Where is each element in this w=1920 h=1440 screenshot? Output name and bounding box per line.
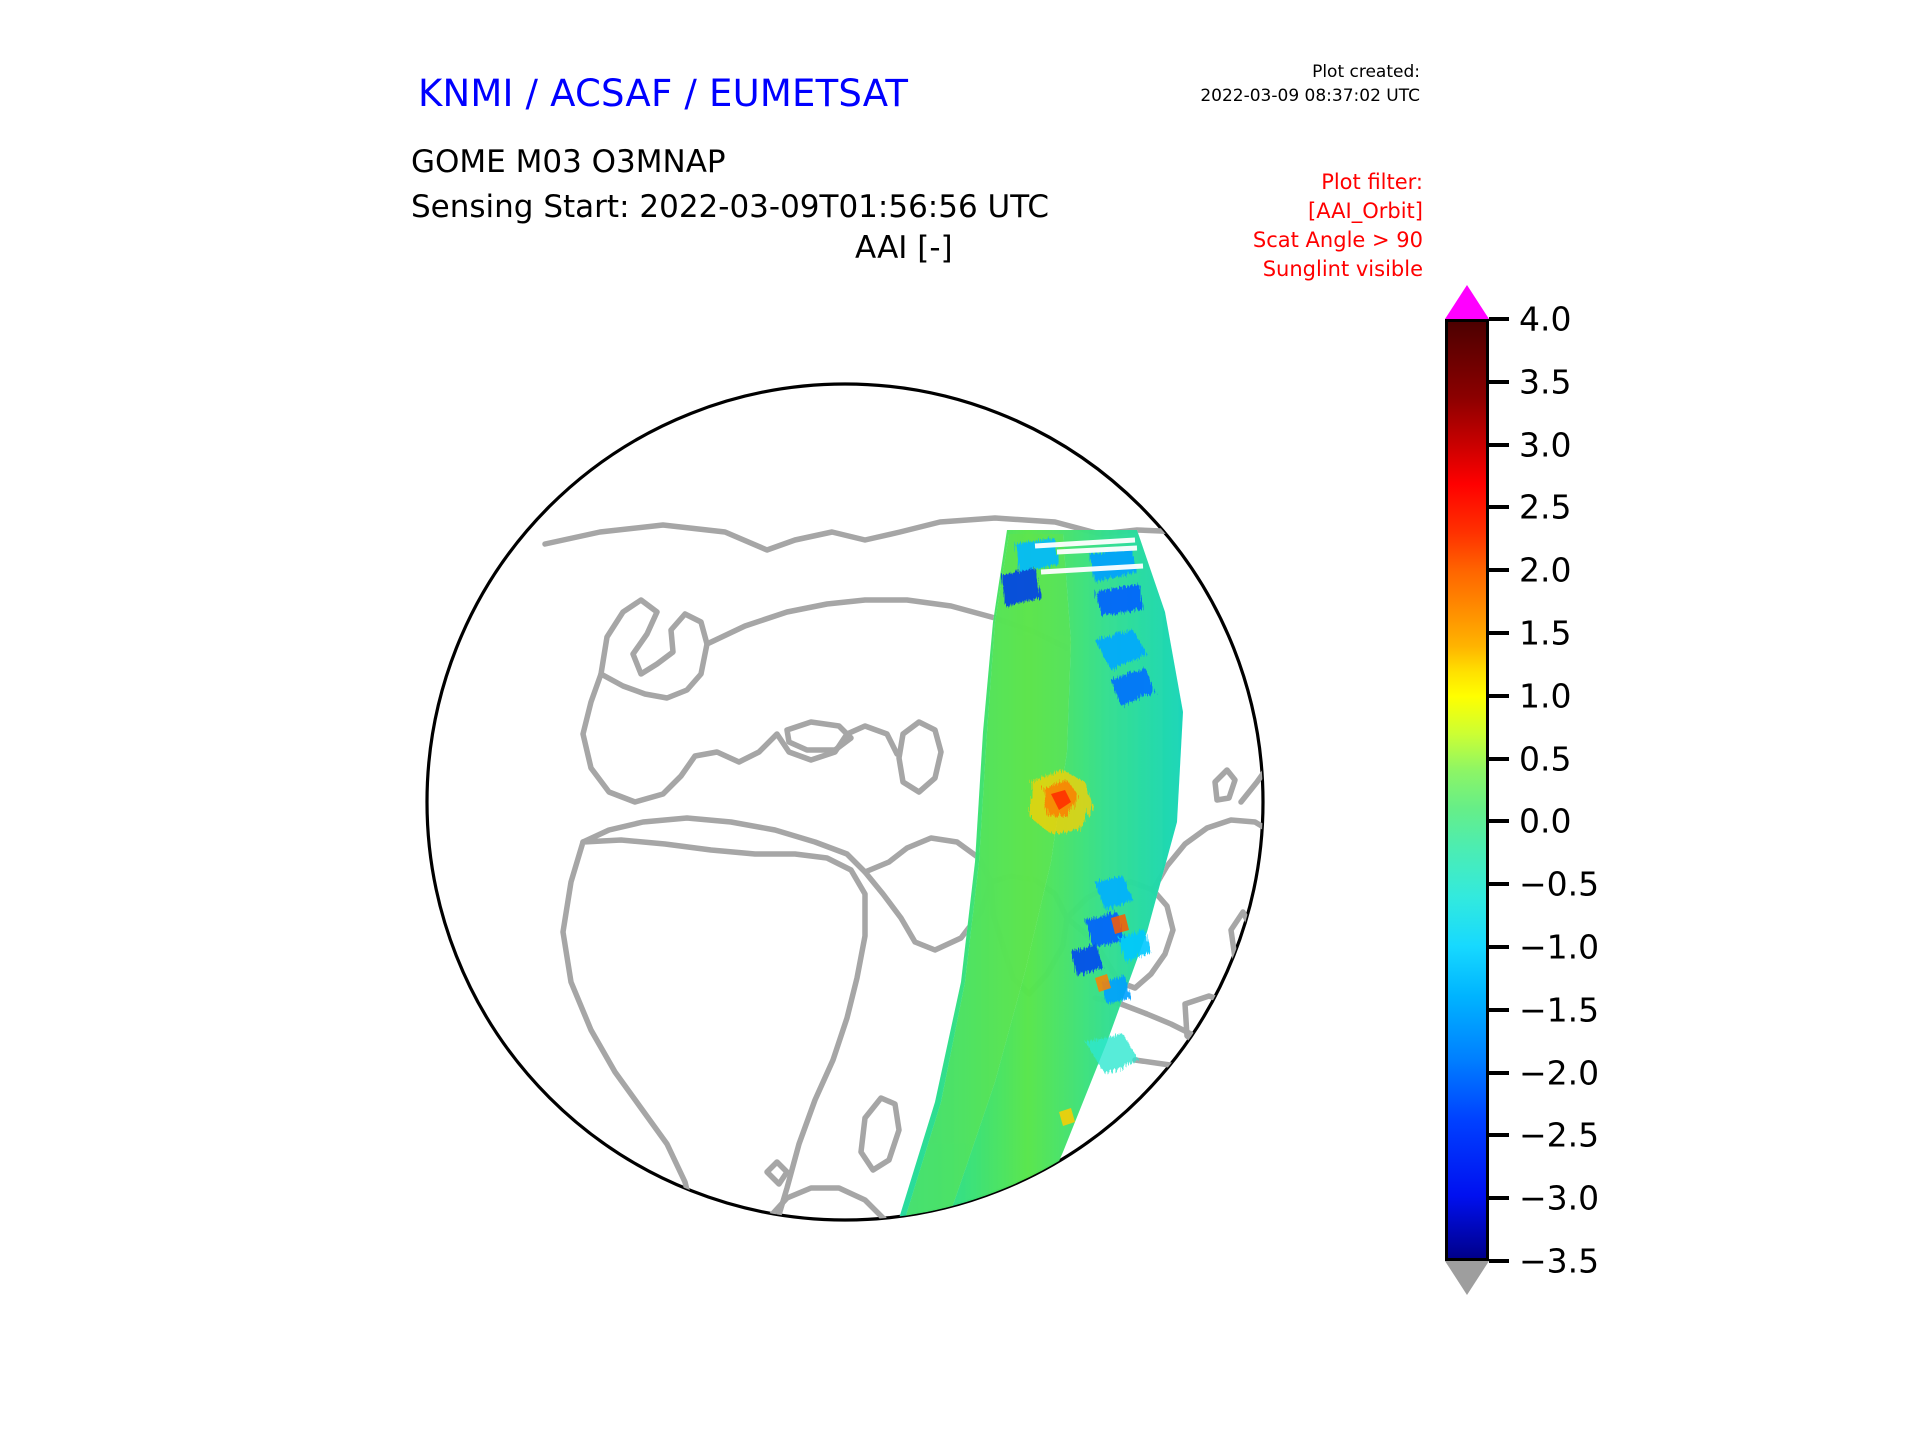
plot-title-block: GOME M03 O3MNAP Sensing Start: 2022-03-0… <box>411 140 1049 230</box>
sensing-start-line: Sensing Start: 2022-03-09T01:56:56 UTC <box>411 185 1049 230</box>
colorbar-tick-label: −1.5 <box>1519 990 1599 1029</box>
colorbar-tick <box>1489 631 1509 635</box>
colorbar-tick-label: 2.5 <box>1519 488 1571 527</box>
colorbar-tick <box>1489 317 1509 321</box>
filter-sunglint: Sunglint visible <box>1253 255 1423 284</box>
colorbar-gradient <box>1445 319 1489 1261</box>
colorbar-tick <box>1489 945 1509 949</box>
organisation-title: KNMI / ACSAF / EUMETSAT <box>418 72 908 115</box>
filter-scat-angle: Scat Angle > 90 <box>1253 226 1423 255</box>
colorbar-tick <box>1489 1196 1509 1200</box>
orthographic-map[interactable] <box>395 282 1295 1322</box>
colorbar-tick <box>1489 443 1509 447</box>
filter-variable: [AAI_Orbit] <box>1253 197 1423 226</box>
colorbar-tick-label: −1.0 <box>1519 928 1599 967</box>
colorbar-tick <box>1489 1259 1509 1263</box>
map-svg <box>395 282 1295 1322</box>
colorbar-tick <box>1489 757 1509 761</box>
colorbar-tick <box>1489 1133 1509 1137</box>
plot-created-time: 2022-03-09 08:37:02 UTC <box>1200 84 1420 108</box>
plot-created-block: Plot created: 2022-03-09 08:37:02 UTC <box>1200 60 1420 108</box>
plot-filter-block: Plot filter: [AAI_Orbit] Scat Angle > 90… <box>1253 168 1423 284</box>
plot-created-label: Plot created: <box>1200 60 1420 84</box>
colorbar[interactable]: 4.03.53.02.52.01.51.00.50.0−0.5−1.0−1.5−… <box>1445 285 1745 1320</box>
colorbar-under-arrow <box>1445 1261 1489 1295</box>
colorbar-tick-label: −2.5 <box>1519 1116 1599 1155</box>
colorbar-tick <box>1489 882 1509 886</box>
colorbar-tick-label: −3.5 <box>1519 1242 1599 1281</box>
colorbar-tick-label: 3.0 <box>1519 425 1571 464</box>
colorbar-tick-label: 4.0 <box>1519 300 1571 339</box>
colorbar-tick-label: 0.0 <box>1519 802 1571 841</box>
colorbar-tick <box>1489 1008 1509 1012</box>
colorbar-tick-label: −0.5 <box>1519 865 1599 904</box>
colorbar-tick-label: 0.5 <box>1519 739 1571 778</box>
instrument-product-line: GOME M03 O3MNAP <box>411 140 1049 185</box>
colorbar-tick-label: 3.5 <box>1519 362 1571 401</box>
colorbar-tick <box>1489 1071 1509 1075</box>
colorbar-tick-label: 1.0 <box>1519 676 1571 715</box>
colorbar-tick <box>1489 819 1509 823</box>
colorbar-tick-label: 1.5 <box>1519 614 1571 653</box>
colorbar-tick <box>1489 694 1509 698</box>
colorbar-tick <box>1489 380 1509 384</box>
colorbar-tick-label: −2.0 <box>1519 1053 1599 1092</box>
filter-label: Plot filter: <box>1253 168 1423 197</box>
colorbar-over-arrow <box>1445 285 1489 319</box>
colorbar-tick-label: 2.0 <box>1519 551 1571 590</box>
colorbar-tick <box>1489 505 1509 509</box>
quantity-title: AAI [-] <box>855 230 953 266</box>
colorbar-tick-label: −3.0 <box>1519 1179 1599 1218</box>
colorbar-tick <box>1489 568 1509 572</box>
